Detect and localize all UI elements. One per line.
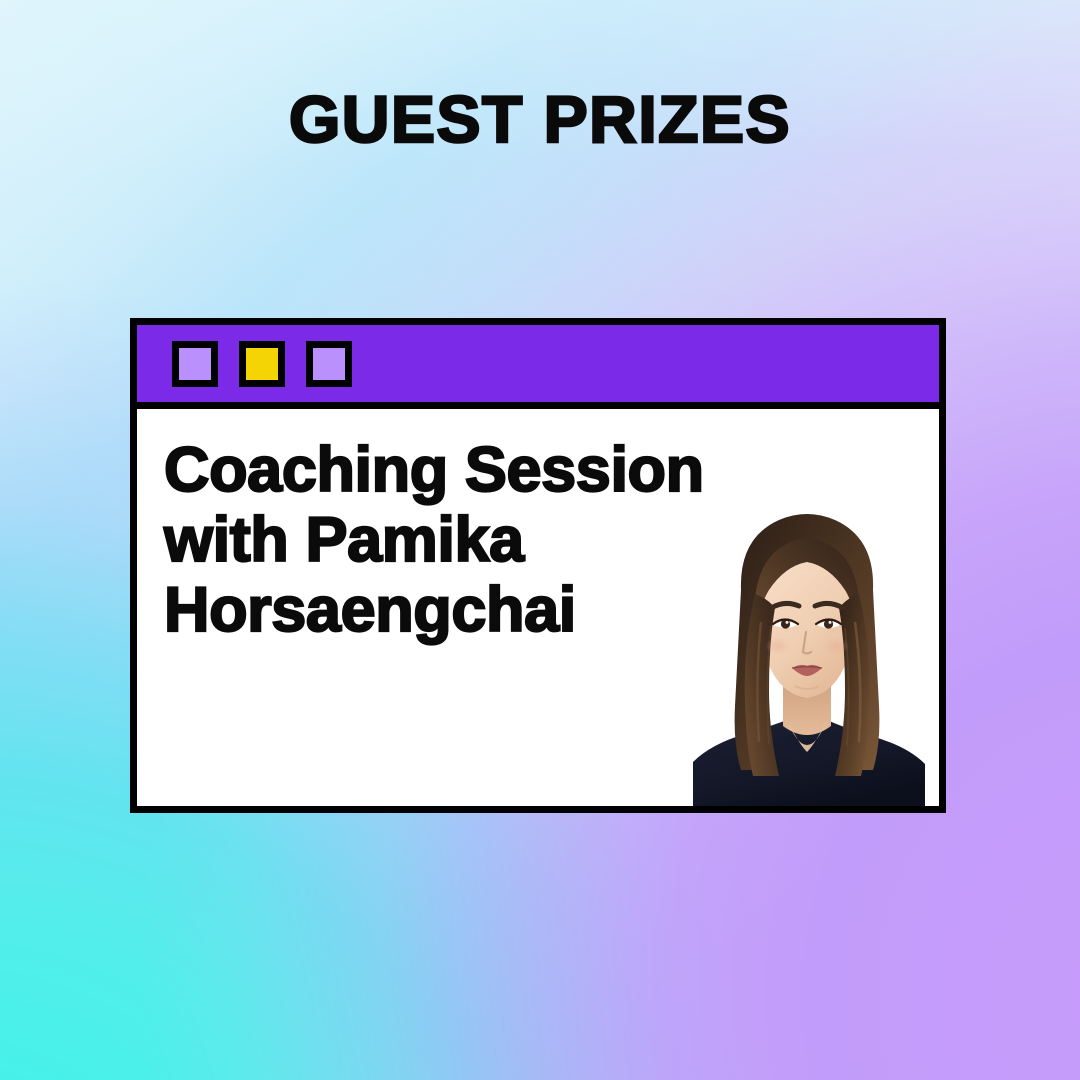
window-content-area: Coaching Session with Pamika Horsaengcha…	[137, 409, 939, 806]
page-title: GUEST PRIZES	[0, 86, 1080, 152]
window-button-one[interactable]	[172, 341, 218, 387]
window-button-three[interactable]	[306, 341, 352, 387]
window-titlebar	[137, 325, 939, 409]
window-mockup: Coaching Session with Pamika Horsaengcha…	[130, 318, 946, 813]
window-button-two[interactable]	[239, 341, 285, 387]
speaker-portrait-photo	[675, 494, 939, 806]
poster-canvas: GUEST PRIZES Coaching Session with Pamik…	[0, 0, 1080, 1080]
